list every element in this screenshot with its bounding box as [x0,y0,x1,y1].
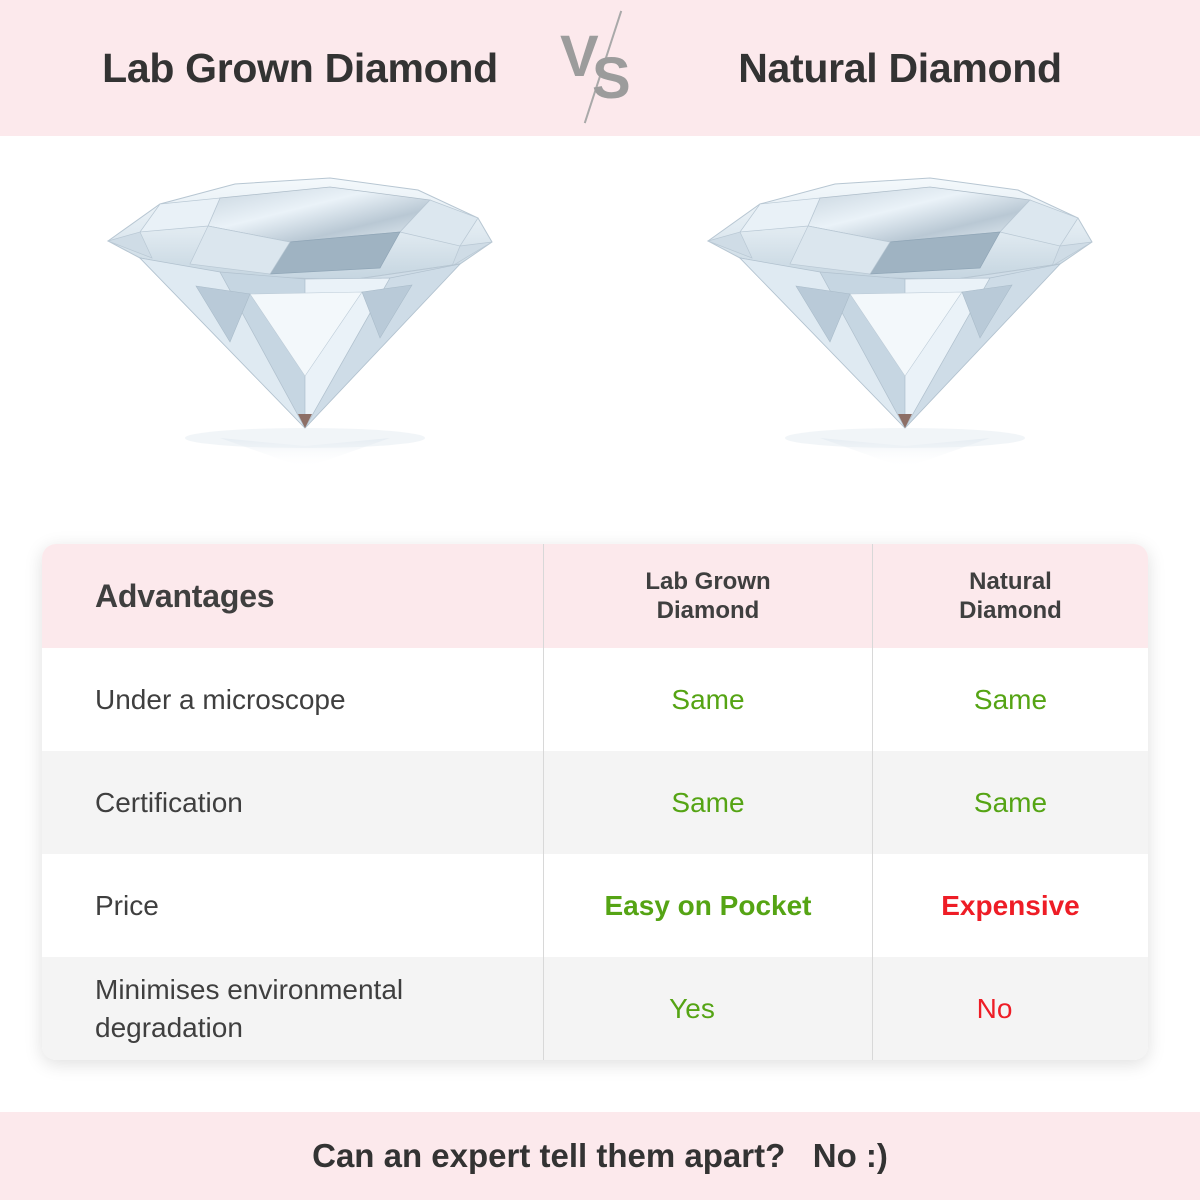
feature-label-line2: degradation [95,1012,243,1043]
table-row: Certification Same Same [42,751,1148,854]
row-feature-cell: Certification [42,751,543,854]
col-header-lab-grown-line1: Lab Grown [645,567,770,596]
diamond-image-area [0,136,1200,516]
value-natural: Same [974,686,1047,714]
row-feature-cell: Under a microscope [42,648,543,751]
comparison-table: Advantages Lab Grown Diamond Natural Dia… [42,544,1148,1060]
row-value-natural: Same [872,751,1148,854]
table-row: Price Easy on Pocket Expensive [42,854,1148,957]
value-lab-grown: Same [671,686,744,714]
row-feature-cell: Price [42,854,543,957]
footer-question: Can an expert tell them apart? No :) [312,1137,888,1175]
advantages-label: Advantages [95,578,274,615]
row-value-lab-grown: Same [543,648,872,751]
vs-badge: V S [540,0,660,136]
feature-label: Certification [95,784,243,822]
table-header-row: Advantages Lab Grown Diamond Natural Dia… [42,544,1148,648]
value-lab-grown: Easy on Pocket [605,892,812,920]
value-natural: No [977,995,1013,1023]
row-value-natural: Expensive [872,854,1148,957]
diamond-cell-natural [600,136,1200,516]
value-natural: Same [974,789,1047,817]
row-value-lab-grown: Yes [543,957,872,1060]
header-band: Lab Grown Diamond V S Natural Diamond [0,0,1200,136]
value-lab-grown: Same [671,789,744,817]
table-row: Minimises environmental degradation Yes … [42,957,1148,1060]
table-row: Under a microscope Same Same [42,648,1148,751]
vs-letter-s: S [592,50,631,108]
row-value-lab-grown: Easy on Pocket [543,854,872,957]
diamond-cell-lab-grown [0,136,600,516]
table-header-lab-grown: Lab Grown Diamond [543,544,872,648]
row-value-natural: Same [872,648,1148,751]
footer-band: Can an expert tell them apart? No :) [0,1112,1200,1200]
row-feature-cell: Minimises environmental degradation [42,957,543,1060]
row-value-lab-grown: Same [543,751,872,854]
feature-label: Under a microscope [95,681,346,719]
value-lab-grown: Yes [669,995,715,1023]
feature-label-line1: Minimises environmental [95,974,403,1005]
value-natural: Expensive [941,892,1080,920]
col-header-lab-grown-line2: Diamond [645,596,770,625]
table-header-advantages: Advantages [42,544,543,648]
col-header-natural-line1: Natural [959,567,1062,596]
table-header-natural: Natural Diamond [872,544,1148,648]
header-title-lab-grown: Lab Grown Diamond [60,45,540,92]
feature-label: Price [95,887,159,925]
row-value-natural: No [872,957,1148,1060]
diamond-icon-natural [700,146,1100,476]
diamond-icon-lab-grown [100,146,500,476]
header-title-natural: Natural Diamond [660,45,1140,92]
col-header-natural-line2: Diamond [959,596,1062,625]
